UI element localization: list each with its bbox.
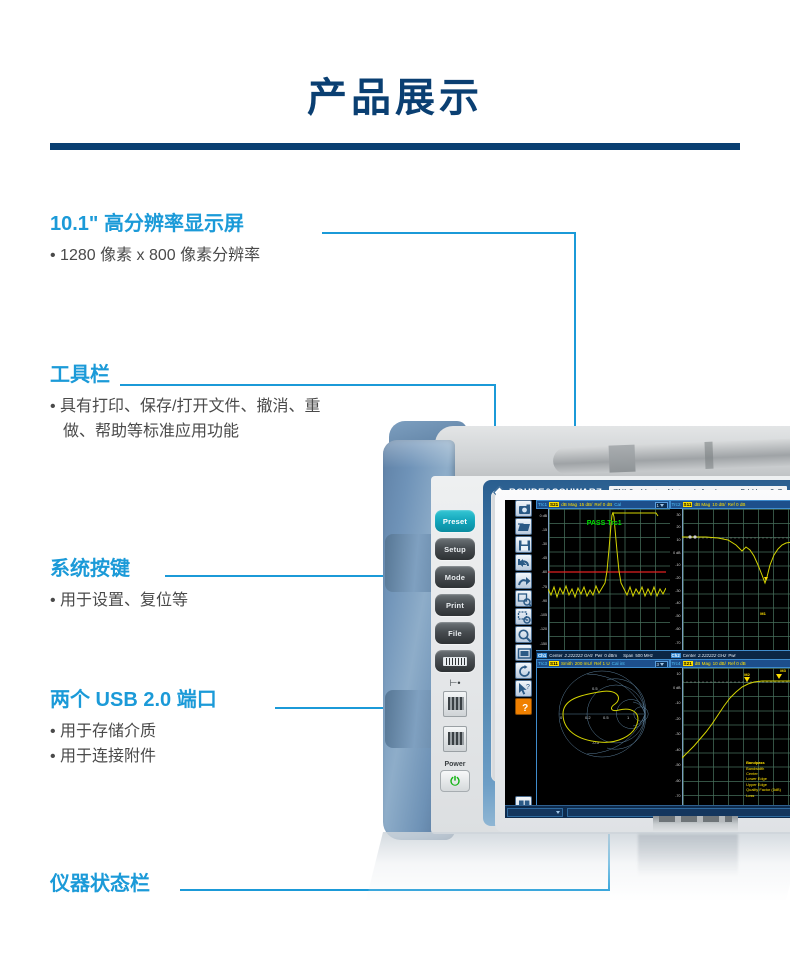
trc2-y-axis: 30 20 10 0 dB -10 -20 -30 -40 -50 -60 -7 [670, 509, 682, 650]
y-tick: -90 [542, 599, 547, 603]
y-tick: 10 [677, 538, 681, 542]
y-tick: -45 [542, 556, 547, 560]
trc4-trace-curve [682, 668, 790, 760]
power-label: Power [435, 761, 475, 768]
svg-text:-0.5: -0.5 [592, 740, 600, 745]
instrument-status-bar[interactable] [505, 805, 790, 818]
channel-name: Ch2 [671, 653, 681, 658]
status-bar-dropdown[interactable] [507, 808, 563, 817]
help-icon[interactable]: ? [515, 698, 532, 715]
chevron-down-icon [556, 811, 560, 814]
center-value: 2.222222 GHz [698, 653, 726, 658]
callout-usb-heading: 两个 USB 2.0 端口 [50, 688, 217, 713]
pass-indicator: PASS Trc1 [587, 520, 622, 527]
trace-scale: 15 dB/ [579, 502, 592, 507]
screenshot-icon[interactable] [515, 500, 532, 517]
y-tick: -60 [675, 779, 680, 783]
list-item: 用于存储介质 [50, 720, 217, 745]
save-file-icon[interactable] [515, 536, 532, 553]
callout-toolbar-list: 具有打印、保存/打开文件、撤消、重做、帮助等标准应用功能 [50, 395, 350, 445]
trace-scale: 200 mU/ [575, 661, 592, 666]
span-value: 500 MHz [635, 653, 653, 658]
diagram-selector-value: 3 [657, 662, 659, 667]
list-item: 1280 像素 x 800 像素分辨率 [50, 244, 260, 269]
y-tick: 0 dB [540, 514, 547, 518]
diagram-trc2[interactable]: Trc2 S11 dB Mag 10 dB/ Ref 0 dB 30 20 10 [670, 500, 790, 659]
carry-handle [553, 436, 790, 475]
y-tick: -20 [675, 717, 680, 721]
trc1-y-axis: 0 dB -15 -30 -45 -60 -75 -90 -105 -120 -… [536, 509, 548, 650]
keyboard-icon [443, 657, 467, 666]
s-parameter: S21 [683, 661, 693, 666]
y-tick: 10 [677, 672, 681, 676]
diagram-row-1: Trc1 S21 dB Mag 15 dB/ Ref 0 dB Cal 1 [536, 500, 790, 659]
list-item: 用于连接附件 [50, 745, 217, 770]
callout-toolbar: 工具栏 具有打印、保存/打开文件、撤消、重做、帮助等标准应用功能 [50, 363, 350, 445]
center-value: 2.222222 GHz [564, 653, 592, 658]
trc2-plot: 30 20 10 0 dB -10 -20 -30 -40 -50 -60 -7 [670, 509, 790, 650]
title-divider [50, 143, 740, 150]
list-item: 具有打印、保存/打开文件、撤消、重做、帮助等标准应用功能 [50, 395, 350, 445]
chevron-down-icon [660, 504, 664, 507]
undo-icon[interactable] [515, 554, 532, 571]
zoom-select-icon[interactable] [515, 590, 532, 607]
bandpass-result-table: Bandpass Bandwidth Center Lower Edge Upp… [746, 760, 790, 798]
y-tick: 0 dB [673, 686, 680, 690]
pointer-help-icon[interactable]: ? [515, 680, 532, 697]
desk-reflection-shadow [638, 834, 738, 876]
trc3-header[interactable]: Trc3 S11 Smith 200 mU/ Ref 1 U Cal int 3 [536, 659, 670, 668]
ch2-status-bar[interactable]: Ch2 Center 2.222222 GHz Pwr [670, 650, 790, 659]
trc1-plot: 0 dB -15 -30 -45 -60 -75 -90 -105 -120 -… [536, 509, 670, 650]
svg-text:?: ? [526, 684, 530, 691]
application-toolbar: ? ? [515, 500, 534, 818]
y-tick: -150 [540, 642, 547, 646]
trc2-header[interactable]: Trc2 S11 dB Mag 10 dB/ Ref 0 dB [670, 500, 790, 509]
instrument-photo: ROHDE&SCHWARZ ZNL6 · Vector Network Anal… [383, 418, 790, 888]
product-showcase-page: 产品展示 10.1" 高分辨率显示屏 1280 像素 x 800 像素分辨率 工… [0, 0, 790, 958]
y-tick: 30 [677, 513, 681, 517]
usb-symbol-icon: ⊢• [435, 678, 475, 689]
callout-system-keys-list: 用于设置、复位等 [50, 589, 188, 614]
mode-key[interactable]: Mode [435, 566, 475, 588]
usb-port-lower[interactable] [443, 726, 467, 752]
zoom-icon[interactable] [515, 626, 532, 643]
svg-text:?: ? [522, 703, 528, 714]
y-tick: -50 [675, 614, 680, 618]
chevron-down-icon [660, 663, 664, 666]
s-parameter: S11 [549, 661, 559, 666]
svg-text:0.2: 0.2 [585, 715, 591, 720]
diagram-area: Trc1 S21 dB Mag 15 dB/ Ref 0 dB Cal 1 [536, 500, 790, 818]
diagram-row-2: Trc3 S11 Smith 200 mU/ Ref 1 U Cal int 3 [536, 659, 790, 818]
y-tick: -105 [540, 613, 547, 617]
y-tick: -30 [675, 732, 680, 736]
trace-scale: 10 dB/ [713, 661, 726, 666]
leader-display-h [322, 232, 576, 234]
system-key-column: Preset Setup Mode Print File ⊢• Power ⏻ [435, 510, 481, 792]
diagram-trc3[interactable]: Trc3 S11 Smith 200 mU/ Ref 1 U Cal int 3 [536, 659, 670, 818]
y-tick: -70 [675, 794, 680, 798]
y-tick: -40 [675, 601, 680, 605]
open-file-icon[interactable] [515, 518, 532, 535]
trace-ref: Ref 0 dB [728, 502, 746, 507]
trace-name: Trc2 [672, 502, 681, 507]
callout-usb-list: 用于存储介质 用于连接附件 [50, 720, 217, 770]
svg-text:0.5: 0.5 [592, 686, 598, 691]
trace-format: dB Mag [695, 661, 711, 666]
bumper-highlight [383, 440, 455, 468]
lcd-screen: ? ? Trc1 S21 dB [505, 500, 790, 818]
y-tick: 0 dB [673, 551, 680, 555]
y-tick: -30 [675, 589, 680, 593]
center-label: Center [549, 653, 562, 658]
marker-label: M2 [744, 672, 750, 677]
svg-text:1: 1 [627, 715, 630, 720]
y-tick: -50 [675, 763, 680, 767]
smith-chart: 0 0.2 0.5 1 0.5 -0.5 [537, 668, 667, 760]
y-tick: -20 [675, 576, 680, 580]
y-tick: -75 [542, 585, 547, 589]
file-key[interactable]: File [435, 622, 475, 644]
trace-name: Trc3 [538, 661, 547, 666]
trace-format: dB Mag [561, 502, 577, 507]
y-tick: -70 [675, 641, 680, 645]
marker-label: M3 [780, 668, 786, 673]
trc4-plot: 10 0 dB -10 -20 -30 -40 -50 -60 -70 [670, 668, 790, 809]
trace-ref: Ref 1 U [594, 661, 610, 666]
trc1-header[interactable]: Trc1 S21 dB Mag 15 dB/ Ref 0 dB Cal 1 [536, 500, 670, 509]
y-tick: -60 [542, 570, 547, 574]
trace-ref: Ref 0 dB [594, 502, 612, 507]
window-icon[interactable] [515, 644, 532, 661]
keyboard-key[interactable] [435, 650, 475, 672]
list-item: 用于设置、复位等 [50, 589, 188, 614]
callout-status-bar: 仪器状态栏 [50, 872, 150, 897]
page-title: 产品展示 [0, 78, 790, 118]
pwr-label: Pwr [728, 653, 736, 658]
diagram-selector[interactable]: 1 [655, 502, 668, 509]
pwr-value: 0 dBm [604, 653, 617, 658]
diagram-selector-value: 1 [657, 503, 659, 508]
callout-system-keys-heading: 系统按键 [50, 557, 188, 582]
callout-display-list: 1280 像素 x 800 像素分辨率 [50, 244, 260, 269]
y-tick: -60 [675, 627, 680, 631]
y-tick: -15 [542, 528, 547, 532]
svg-text:0: 0 [560, 715, 563, 720]
bandpass-row: Loss [746, 793, 781, 798]
diagram-selector[interactable]: 3 [655, 661, 668, 668]
trc4-y-axis: 10 0 dB -10 -20 -30 -40 -50 -60 -70 [670, 668, 682, 809]
callout-display: 10.1" 高分辨率显示屏 1280 像素 x 800 像素分辨率 [50, 212, 260, 269]
y-tick: -10 [675, 563, 680, 567]
trc3-plot: 0 0.2 0.5 1 0.5 -0.5 [536, 668, 670, 809]
channel-name: Ch1 [537, 653, 547, 658]
y-tick: -30 [542, 542, 547, 546]
trc2-trace-curve [682, 509, 790, 601]
pwr-label: Pwr [595, 653, 603, 658]
trace-ref: Ref 0 dB [728, 661, 746, 666]
usb-port-upper[interactable] [443, 691, 467, 717]
center-label: Center [683, 653, 696, 658]
span-label: Span [623, 653, 633, 658]
setup-key[interactable]: Setup [435, 538, 475, 560]
marker-label: M1 [760, 611, 766, 616]
trc4-header[interactable]: Trc4 S21 dB Mag 10 dB/ Ref 0 dB [670, 659, 790, 668]
trace-name: Trc4 [672, 661, 681, 666]
refresh-icon[interactable] [515, 662, 532, 679]
trace-format: Smith [561, 661, 573, 666]
y-tick: 20 [677, 525, 681, 529]
trace-cal: Cal [614, 502, 621, 507]
y-tick: -120 [540, 627, 547, 631]
y-tick: -40 [675, 748, 680, 752]
svg-text:0.5: 0.5 [603, 715, 609, 720]
s-parameter: S11 [683, 502, 693, 507]
preset-key[interactable]: Preset [435, 510, 475, 532]
zoom-out-select-icon[interactable] [515, 608, 532, 625]
y-tick: -10 [675, 701, 680, 705]
callout-toolbar-heading: 工具栏 [50, 363, 350, 388]
trace-format: dB Mag [694, 502, 710, 507]
callout-display-heading: 10.1" 高分辨率显示屏 [50, 212, 260, 237]
s-parameter: S21 [549, 502, 559, 507]
ch1-status-bar[interactable]: Ch1 Center 2.222222 GHz Pwr 0 dBm Span 5… [536, 650, 670, 659]
redo-icon[interactable] [515, 572, 532, 589]
callout-system-keys: 系统按键 用于设置、复位等 [50, 557, 188, 614]
bandpass-title: Bandpass [746, 760, 765, 765]
callout-status-bar-heading: 仪器状态栏 [50, 872, 150, 897]
trace-name: Trc1 [538, 502, 547, 507]
trace-cal: Cal int [612, 661, 625, 666]
print-key[interactable]: Print [435, 594, 475, 616]
callout-usb-ports: 两个 USB 2.0 端口 用于存储介质 用于连接附件 [50, 688, 217, 770]
trace-scale: 10 dB/ [712, 502, 725, 507]
diagram-trc4[interactable]: Trc4 S21 dB Mag 10 dB/ Ref 0 dB 10 0 dB … [670, 659, 790, 818]
diagram-trc1[interactable]: Trc1 S21 dB Mag 15 dB/ Ref 0 dB Cal 1 [536, 500, 670, 659]
power-button[interactable]: ⏻ [440, 770, 470, 792]
bandpass-row: Quality Factor (3dB) [746, 787, 781, 792]
